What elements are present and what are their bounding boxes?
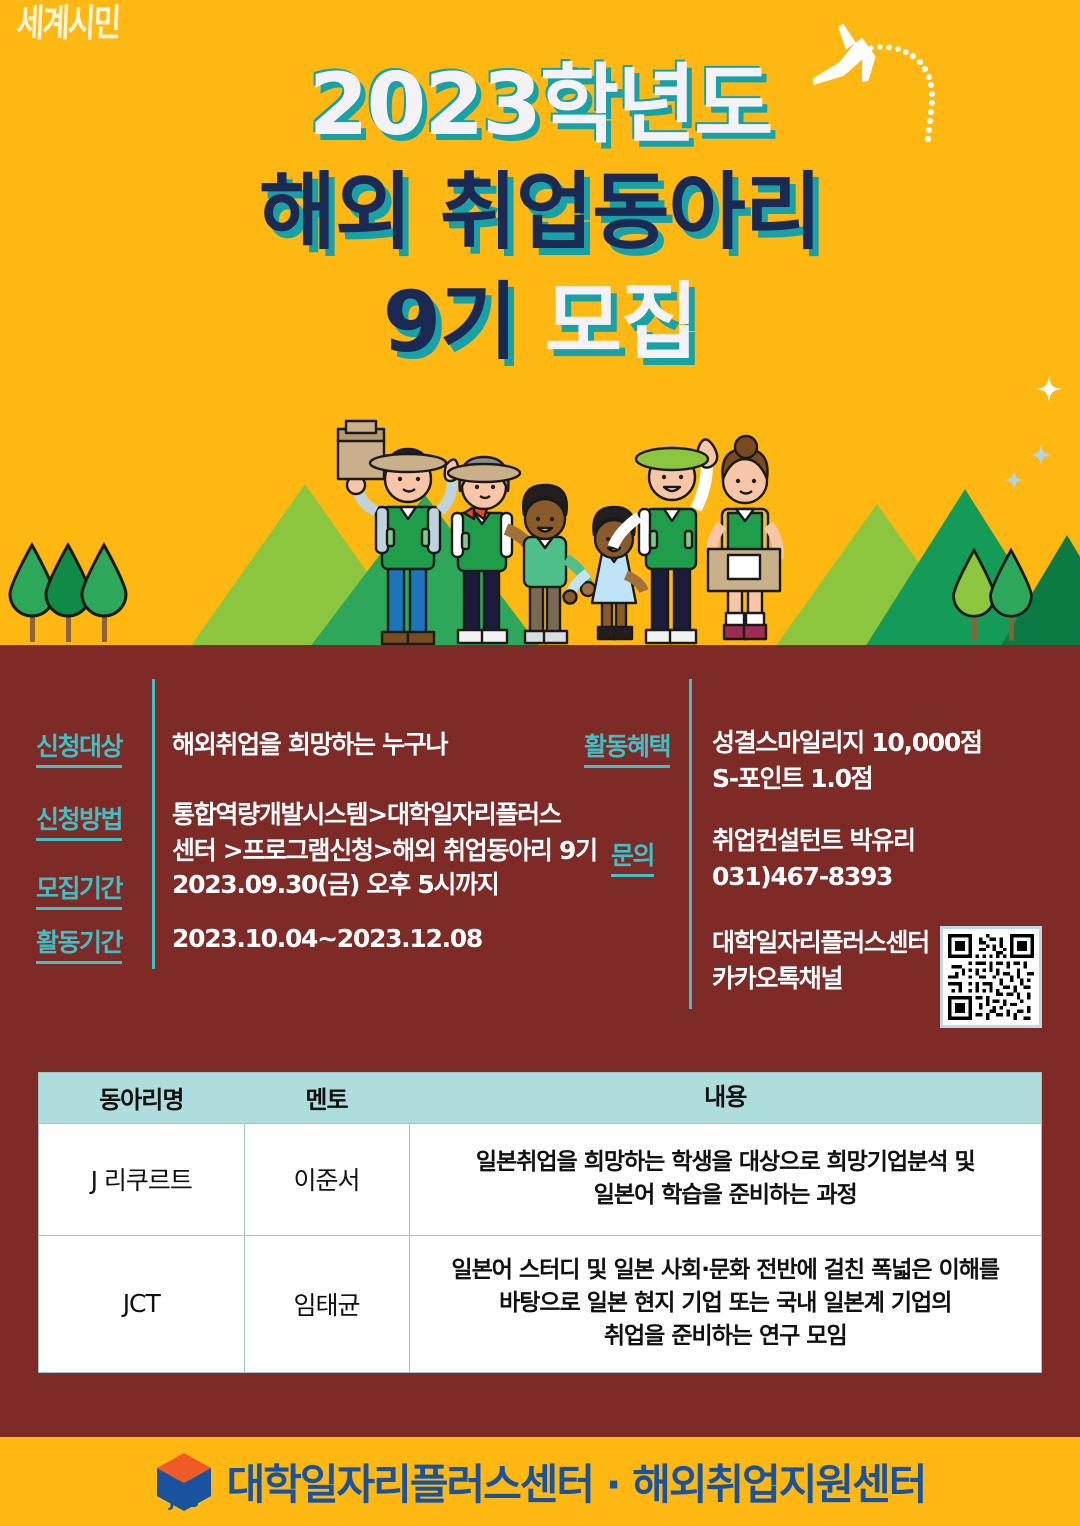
title-line-3-recruit: 모집 [545, 273, 698, 371]
info-value-kakao-line-2: 카카오톡채널 [712, 961, 929, 997]
world-citizen-logo: 세계시민 [16, 0, 121, 47]
jobplus-logo-icon: JOB + [155, 1451, 213, 1513]
divider-right [689, 679, 692, 1009]
info-value-benefits-line-1: 성결스마일리지 10,000점 [712, 725, 982, 761]
info-value-kakao-channel: 대학일자리플러스센터 카카오톡채널 [712, 925, 929, 998]
table-header-club-name: 동아리명 [39, 1073, 244, 1123]
table-cell-mentor: 임태균 [244, 1235, 409, 1372]
info-value-benefits: 성결스마일리지 10,000점 S-포인트 1.0점 [712, 725, 982, 798]
ground-strip [0, 645, 1080, 653]
title-line-1: 2023학년도 [0, 62, 1080, 148]
info-value-contact-line-2: 031)467-8393 [712, 859, 915, 895]
volunteer-group-illustration [330, 407, 790, 647]
table-header-description: 내용 [409, 1073, 1041, 1123]
table-cell-mentor: 이준서 [244, 1123, 409, 1235]
info-value-method-line-1: 통합역량개발시스템>대학일자리플러스 [172, 797, 597, 833]
info-value-contact: 취업컨설턴트 박유리 031)467-8393 [712, 823, 915, 896]
table-cell-description: 일본어 스터디 및 일본 사회·문화 전반에 걸친 폭넓은 이해를 바탕으로 일… [409, 1235, 1041, 1372]
info-label-target: 신청대상 [36, 727, 122, 768]
poster-root: 세계시민 [0, 0, 1080, 1526]
divider-left [152, 679, 155, 969]
qr-code[interactable] [940, 926, 1042, 1028]
info-label-activity-period: 활동기간 [36, 923, 122, 964]
hero-section: 세계시민 [0, 0, 1080, 653]
info-row-method: 신청방법 [36, 800, 122, 841]
landscape-illustration [0, 403, 1080, 653]
info-value-recruit-period-line-1: 2023.09.30(금) 오후 5시까지 [172, 867, 499, 903]
info-value-activity-period-line-1: 2023.10.04~2023.12.08 [172, 921, 482, 957]
info-label-recruit-period: 모집기간 [36, 869, 122, 910]
footer-title: 대학일자리플러스센터 · 해외취업지원센터 [227, 1451, 926, 1512]
info-value-contact-line-1: 취업컨설턴트 박유리 [712, 823, 915, 859]
tree-icon-5 [985, 546, 1037, 647]
svg-text:+: + [199, 1487, 210, 1502]
info-row-benefits: 활동혜택 [584, 727, 670, 768]
info-row-contact: 문의 [611, 836, 654, 877]
info-section: 신청대상 해외취업을 희망하는 누구나 신청방법 통합역량개발시스템>대학일자리… [0, 653, 1080, 1437]
info-row-activity-period: 활동기간 [36, 923, 122, 964]
table-header-row: 동아리명 멘토 내용 [39, 1073, 1041, 1123]
info-value-method-line-2: 센터 >프로그램신청>해외 취업동아리 9기 [172, 833, 597, 869]
title-line-2: 해외 취업동아리 [0, 170, 1080, 254]
svg-text:JOB: JOB [168, 1493, 199, 1511]
info-value-method: 통합역량개발시스템>대학일자리플러스 센터 >프로그램신청>해외 취업동아리 9… [172, 797, 597, 870]
info-value-activity-period: 2023.10.04~2023.12.08 [172, 921, 482, 957]
info-label-method: 신청방법 [36, 800, 122, 841]
info-value-kakao-line-1: 대학일자리플러스센터 [712, 925, 929, 961]
title-line-3-cohort: 9기 [383, 273, 517, 371]
info-row-target: 신청대상 [36, 727, 122, 768]
table-cell-club-name: J 리쿠르트 [39, 1123, 244, 1235]
info-value-target: 해외취업을 희망하는 누구나 [172, 727, 447, 763]
sparkle-icon-white [1036, 376, 1062, 402]
info-value-benefits-line-2: S-포인트 1.0점 [712, 761, 982, 797]
tree-icon-3 [76, 542, 132, 647]
title-block: 2023학년도 해외 취업동아리 9기 모집 [0, 62, 1080, 364]
title-line-3: 9기 모집 [0, 280, 1080, 364]
info-value-target-line-1: 해외취업을 희망하는 누구나 [172, 727, 447, 763]
table-cell-club-name: JCT [39, 1235, 244, 1372]
info-label-benefits: 활동혜택 [584, 727, 670, 768]
table-header-mentor: 멘토 [244, 1073, 409, 1123]
info-value-recruit-period: 2023.09.30(금) 오후 5시까지 [172, 867, 499, 903]
info-label-contact: 문의 [611, 836, 654, 877]
table-row: JCT 임태균 일본어 스터디 및 일본 사회·문화 전반에 걸친 폭넓은 이해… [39, 1235, 1041, 1372]
clubs-table: 동아리명 멘토 내용 J 리쿠르트 이준서 일본취업을 희망하는 학생을 대상으… [38, 1072, 1042, 1373]
table-cell-description: 일본취업을 희망하는 학생을 대상으로 희망기업분석 및 일본어 학습을 준비하… [409, 1123, 1041, 1235]
info-row-recruit-period: 모집기간 [36, 869, 122, 910]
footer-section: JOB + 대학일자리플러스센터 · 해외취업지원센터 [0, 1437, 1080, 1526]
table-row: J 리쿠르트 이준서 일본취업을 희망하는 학생을 대상으로 희망기업분석 및 … [39, 1123, 1041, 1235]
